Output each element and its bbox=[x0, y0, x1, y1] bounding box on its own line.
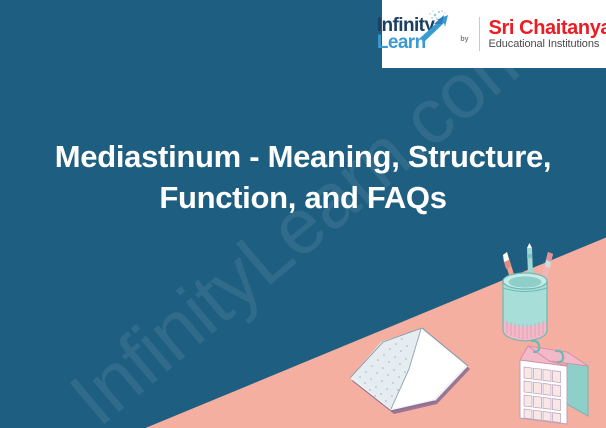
page-title: Mediastinum - Meaning, Structure, Functi… bbox=[0, 137, 606, 219]
sri-chaitanya-title: Sri Chaitanya bbox=[489, 18, 606, 38]
infinity-learn-logo: Infinity Learn bbox=[377, 17, 434, 52]
brand-logo-card[interactable]: Infinity Learn by Sri Chaitanya Educatio… bbox=[382, 0, 606, 68]
logo-divider bbox=[479, 17, 480, 51]
sri-chaitanya-subtitle: Educational Institutions bbox=[489, 39, 606, 50]
logo-by-label: by bbox=[460, 36, 468, 43]
article-banner: InfinityLearn.com bbox=[0, 0, 606, 428]
sri-chaitanya-logo: Sri Chaitanya Educational Institutions bbox=[489, 18, 606, 50]
infinity-learn-line2: Learn bbox=[377, 34, 434, 51]
